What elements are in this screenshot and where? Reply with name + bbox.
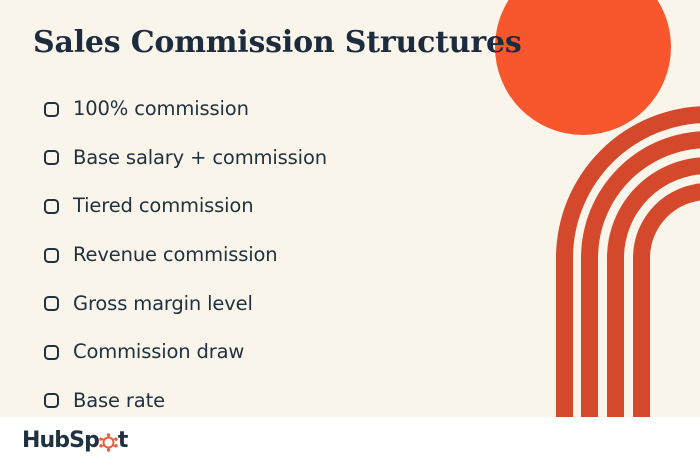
bright-orange-circle (495, 0, 671, 135)
list-item: Revenue commission (44, 231, 474, 280)
list-item-label: Base salary + commission (73, 146, 327, 170)
rounded-square-outline-icon (44, 393, 59, 408)
rounded-square-outline-icon (44, 296, 59, 311)
arc-third (607, 157, 700, 417)
arc-outermost (633, 183, 700, 417)
arc-innermost (556, 106, 700, 417)
arc-second (581, 131, 700, 417)
list-item: Base rate (44, 377, 474, 417)
list-item-label: Tiered commission (73, 194, 253, 218)
infographic-canvas: Sales Commission Structures 100% commiss… (0, 0, 700, 466)
list-item-label: Revenue commission (73, 243, 278, 267)
list-item-label: Base rate (73, 389, 165, 413)
rounded-square-outline-icon (44, 248, 59, 263)
list-item: Tiered commission (44, 182, 474, 231)
list-item-label: Gross margin level (73, 292, 253, 316)
list-item-label: Commission draw (73, 340, 244, 364)
hubspot-logo: HubSp t (22, 428, 128, 454)
list-item: 100% commission (44, 85, 474, 134)
rounded-square-outline-icon (44, 150, 59, 165)
commission-structures-list: 100% commission Base salary + commission… (44, 85, 474, 417)
list-item-label: 100% commission (73, 97, 249, 121)
logo-text-after: t (118, 430, 128, 452)
rounded-square-outline-icon (44, 102, 59, 117)
list-item: Commission draw (44, 328, 474, 377)
list-item: Base salary + commission (44, 134, 474, 183)
hubspot-sprocket-icon (99, 433, 118, 452)
rounded-square-outline-icon (44, 345, 59, 360)
logo-text-before: HubSp (22, 430, 99, 452)
card-background: Sales Commission Structures 100% commiss… (0, 0, 700, 417)
list-item: Gross margin level (44, 279, 474, 328)
rounded-square-outline-icon (44, 199, 59, 214)
page-title: Sales Commission Structures (33, 24, 483, 62)
